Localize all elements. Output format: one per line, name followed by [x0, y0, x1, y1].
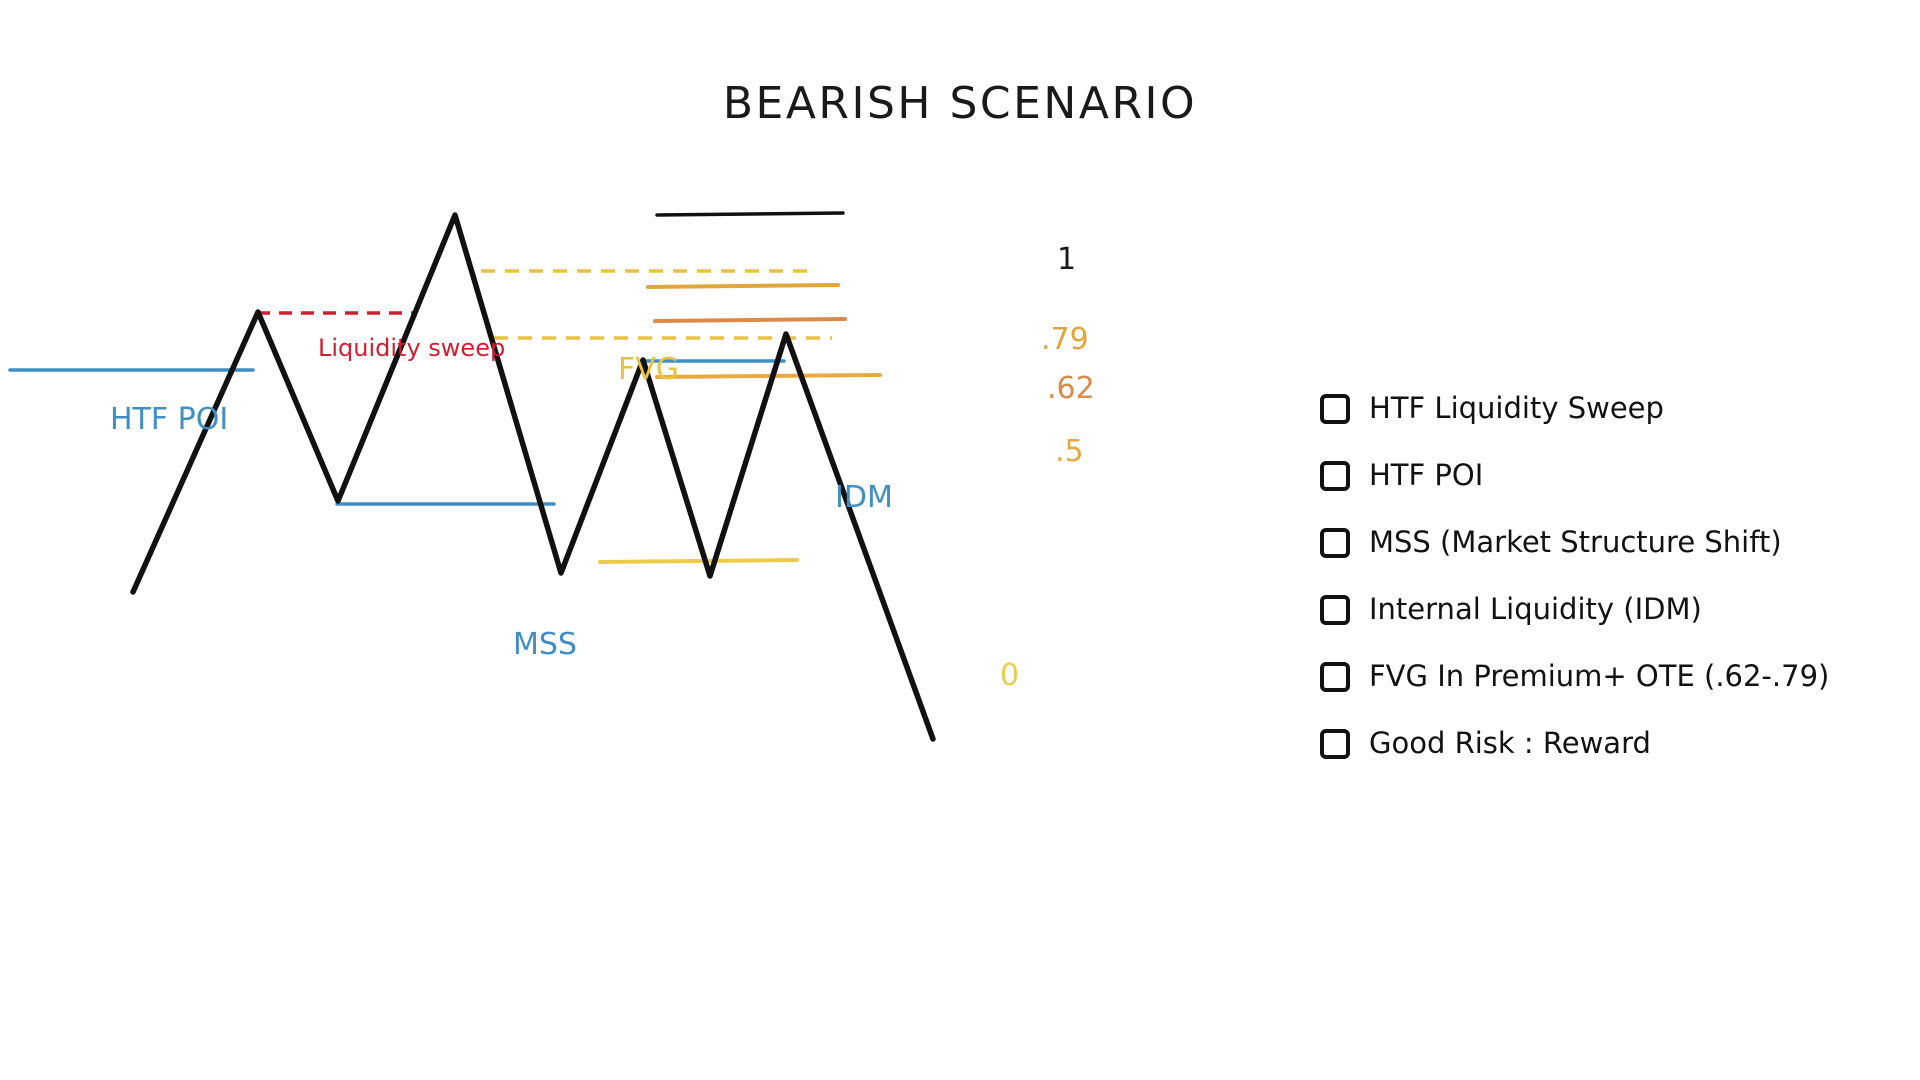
fib-1-line — [657, 213, 843, 215]
fib-5-line — [657, 375, 880, 377]
checklist-item[interactable]: FVG In Premium+ OTE (.62-.79) — [1320, 643, 1880, 710]
fib-0-line — [600, 560, 797, 562]
fib-level-label-5: .5 — [1055, 437, 1084, 467]
checklist-item-label: HTF POI — [1369, 461, 1483, 490]
fib-level-label-79: .79 — [1041, 325, 1089, 355]
fib-level-label-0: 0 — [1000, 661, 1019, 691]
checklist: HTF Liquidity Sweep HTF POI MSS (Market … — [1320, 375, 1880, 777]
fib-62-line — [655, 319, 845, 321]
checklist-item[interactable]: MSS (Market Structure Shift) — [1320, 509, 1880, 576]
checkbox-icon[interactable] — [1320, 461, 1350, 491]
checkbox-icon[interactable] — [1320, 394, 1350, 424]
checklist-item[interactable]: HTF Liquidity Sweep — [1320, 375, 1880, 442]
checkbox-icon[interactable] — [1320, 729, 1350, 759]
checklist-item-label: HTF Liquidity Sweep — [1369, 394, 1664, 423]
checklist-item-label: FVG In Premium+ OTE (.62-.79) — [1369, 662, 1829, 691]
checklist-item[interactable]: HTF POI — [1320, 442, 1880, 509]
idm-label: IDM — [835, 483, 893, 513]
diagram-canvas: BEARISH SCENARIO HTF POI Liquidity sweep… — [0, 0, 1920, 1080]
checklist-item[interactable]: Good Risk : Reward — [1320, 710, 1880, 777]
checklist-item-label: MSS (Market Structure Shift) — [1369, 528, 1782, 557]
mss-label: MSS — [513, 630, 577, 660]
checkbox-icon[interactable] — [1320, 662, 1350, 692]
liquidity-sweep-label: Liquidity sweep — [318, 336, 505, 360]
fib-level-label-62: .62 — [1047, 374, 1095, 404]
checklist-item-label: Internal Liquidity (IDM) — [1369, 595, 1702, 624]
fib-level-label-1: 1 — [1057, 245, 1076, 275]
checklist-item[interactable]: Internal Liquidity (IDM) — [1320, 576, 1880, 643]
fvg-label: FVG — [618, 355, 679, 385]
htf-poi-label: HTF POI — [110, 405, 228, 435]
checkbox-icon[interactable] — [1320, 595, 1350, 625]
checkbox-icon[interactable] — [1320, 528, 1350, 558]
checklist-item-label: Good Risk : Reward — [1369, 729, 1651, 758]
fib-79-line — [648, 285, 838, 287]
